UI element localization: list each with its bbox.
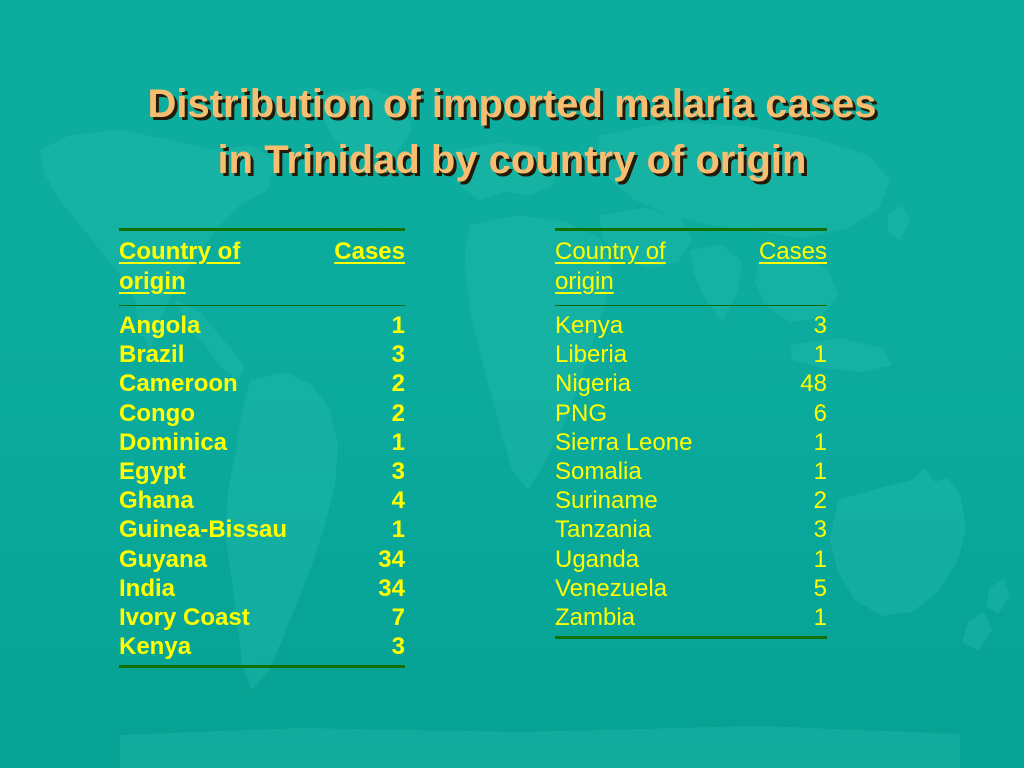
table-row: Guinea-Bissau 1 <box>119 515 405 544</box>
slide-canvas: Distribution of imported malaria cases i… <box>0 0 1024 768</box>
cell-country: PNG <box>555 399 607 428</box>
cell-country: Venezuela <box>555 574 667 603</box>
cell-country: Guyana <box>119 545 207 574</box>
cell-country: Dominica <box>119 428 227 457</box>
table-row: Venezuela 5 <box>555 574 827 603</box>
cell-country: India <box>119 574 175 603</box>
page-title: Distribution of imported malaria cases i… <box>0 76 1024 188</box>
cell-country: Uganda <box>555 545 639 574</box>
table-row: Ivory Coast 7 <box>119 603 405 632</box>
column-header-cases: Cases <box>334 237 405 267</box>
cell-country: Tanzania <box>555 515 651 544</box>
table-row: PNG 6 <box>555 399 827 428</box>
cell-country: Kenya <box>555 311 623 340</box>
table-row: Nigeria 48 <box>555 369 827 398</box>
cell-cases: 3 <box>392 632 405 661</box>
cell-cases: 1 <box>814 603 827 632</box>
table-row: Liberia 1 <box>555 340 827 369</box>
table-row: Dominica 1 <box>119 428 405 457</box>
cell-cases: 34 <box>378 545 405 574</box>
table-row: Egypt 3 <box>119 457 405 486</box>
table-row: Kenya 3 <box>555 311 827 340</box>
table-rule-bottom <box>555 636 827 639</box>
table-row: Ghana 4 <box>119 486 405 515</box>
table-row: Guyana 34 <box>119 545 405 574</box>
column-header-country: Country of origin <box>119 237 279 297</box>
cell-cases: 48 <box>800 369 827 398</box>
cell-cases: 7 <box>392 603 405 632</box>
cell-country: Sierra Leone <box>555 428 692 457</box>
cell-country: Guinea-Bissau <box>119 515 287 544</box>
table-body-left: Angola 1 Brazil 3 Cameroon 2 Congo 2 Dom… <box>119 306 405 665</box>
cell-cases: 34 <box>378 574 405 603</box>
malaria-cases-table-left: Country of origin Cases Angola 1 Brazil … <box>119 228 405 668</box>
column-header-country: Country of origin <box>555 237 715 297</box>
cell-country: Ivory Coast <box>119 603 250 632</box>
cell-cases: 3 <box>814 311 827 340</box>
cell-cases: 2 <box>392 369 405 398</box>
table-row: India 34 <box>119 574 405 603</box>
cell-cases: 3 <box>814 515 827 544</box>
cell-cases: 3 <box>392 340 405 369</box>
cell-cases: 1 <box>814 545 827 574</box>
cell-country: Ghana <box>119 486 194 515</box>
table-header-right: Country of origin Cases <box>555 231 827 305</box>
cell-cases: 3 <box>392 457 405 486</box>
table-row: Suriname 2 <box>555 486 827 515</box>
cell-cases: 6 <box>814 399 827 428</box>
cell-cases: 2 <box>392 399 405 428</box>
table-header-left: Country of origin Cases <box>119 231 405 305</box>
table-rule-bottom <box>119 665 405 668</box>
cell-country: Zambia <box>555 603 635 632</box>
cell-country: Congo <box>119 399 195 428</box>
cell-country: Nigeria <box>555 369 631 398</box>
cell-cases: 4 <box>392 486 405 515</box>
table-body-right: Kenya 3 Liberia 1 Nigeria 48 PNG 6 Sierr… <box>555 306 827 636</box>
table-row: Angola 1 <box>119 311 405 340</box>
cell-country: Cameroon <box>119 369 238 398</box>
cell-cases: 1 <box>814 340 827 369</box>
cell-country: Kenya <box>119 632 191 661</box>
cell-country: Angola <box>119 311 200 340</box>
table-row: Brazil 3 <box>119 340 405 369</box>
table-row: Tanzania 3 <box>555 515 827 544</box>
cell-country: Suriname <box>555 486 658 515</box>
table-row: Zambia 1 <box>555 603 827 632</box>
column-header-cases: Cases <box>759 237 827 267</box>
cell-cases: 5 <box>814 574 827 603</box>
cell-cases: 1 <box>392 311 405 340</box>
malaria-cases-table-right: Country of origin Cases Kenya 3 Liberia … <box>555 228 827 639</box>
table-row: Kenya 3 <box>119 632 405 661</box>
table-row: Congo 2 <box>119 399 405 428</box>
cell-country: Somalia <box>555 457 642 486</box>
table-row: Somalia 1 <box>555 457 827 486</box>
cell-country: Liberia <box>555 340 627 369</box>
cell-cases: 1 <box>814 457 827 486</box>
cell-country: Egypt <box>119 457 186 486</box>
table-row: Uganda 1 <box>555 545 827 574</box>
cell-country: Brazil <box>119 340 184 369</box>
table-row: Sierra Leone 1 <box>555 428 827 457</box>
cell-cases: 1 <box>392 515 405 544</box>
cell-cases: 2 <box>814 486 827 515</box>
table-row: Cameroon 2 <box>119 369 405 398</box>
cell-cases: 1 <box>392 428 405 457</box>
cell-cases: 1 <box>814 428 827 457</box>
